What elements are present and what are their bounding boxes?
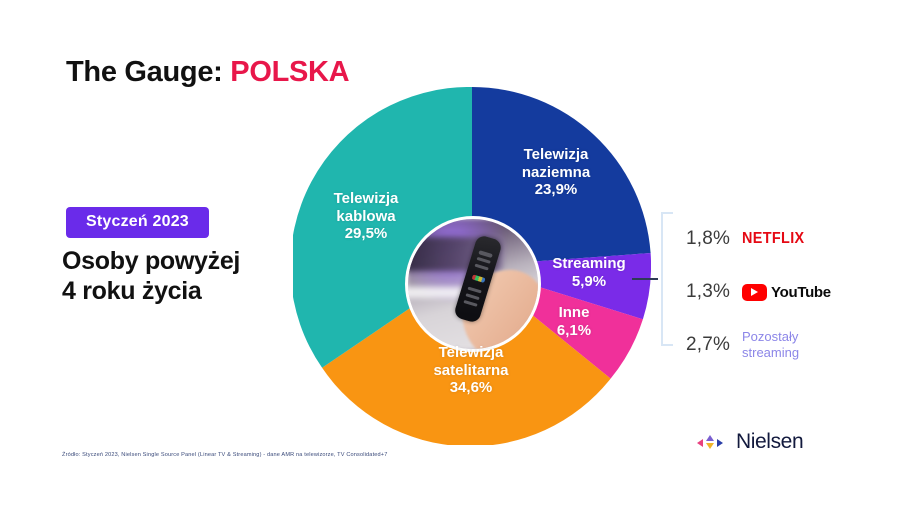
legend-row-netflix: 1,8% NETFLIX <box>686 218 891 260</box>
netflix-wordmark: NETFLIX <box>742 230 805 248</box>
pie-label-inne-line1: Inne <box>527 304 621 322</box>
legend-row-youtube: 1,3% YouTube <box>686 271 891 313</box>
pie-value-kablowa: 29,5% <box>303 225 429 243</box>
netflix-logo: NETFLIX <box>742 230 891 248</box>
legend-value-youtube: 1,3% <box>686 281 742 303</box>
pie-label-satelitarna-line1: Telewizja <box>396 344 546 362</box>
pie-label-naziemna-line1: Telewizja <box>491 146 621 164</box>
youtube-logo: YouTube <box>742 284 891 301</box>
pie-label-naziemna: Telewizja naziemna 23,9% <box>491 146 621 199</box>
other-streaming-line2: streaming <box>742 345 799 361</box>
page-title-accent: POLSKA <box>230 56 349 88</box>
pie-label-streaming-line1: Streaming <box>524 255 654 273</box>
legend-value-other-streaming: 2,7% <box>686 334 742 356</box>
pie-label-satelitarna-line2: satelitarna <box>396 362 546 380</box>
pie-value-streaming: 5,9% <box>524 273 654 291</box>
streaming-breakout-legend: 1,8% NETFLIX 1,3% YouTube 2,7% Pozostały… <box>686 218 891 377</box>
pie-label-kablowa-line2: kablowa <box>303 208 429 226</box>
period-badge: Styczeń 2023 <box>66 207 209 238</box>
streaming-breakout-bracket <box>655 212 669 346</box>
bracket-top-arm <box>661 212 673 214</box>
other-streaming-line1: Pozostały <box>742 329 799 345</box>
bracket-vertical <box>661 212 663 346</box>
nielsen-wordmark: Nielsen <box>736 430 803 454</box>
pie-value-satelitarna: 34,6% <box>396 379 546 397</box>
pie-label-inne: Inne 6,1% <box>527 304 621 339</box>
audience-subheading: Osoby powyżej 4 roku życia <box>62 247 240 306</box>
nielsen-logo: Nielsen <box>697 430 803 454</box>
audience-subheading-line2: 4 roku życia <box>62 277 240 307</box>
pie-label-kablowa: Telewizja kablowa 29,5% <box>303 190 429 243</box>
legend-value-netflix: 1,8% <box>686 228 742 250</box>
pie-label-satelitarna: Telewizja satelitarna 34,6% <box>396 344 546 397</box>
pie-value-naziemna: 23,9% <box>491 181 621 199</box>
bracket-bottom-arm <box>661 344 673 346</box>
pie-label-naziemna-line2: naziemna <box>491 164 621 182</box>
legend-row-other-streaming: 2,7% Pozostały streaming <box>686 324 891 366</box>
nielsen-marks-icon <box>697 434 729 450</box>
source-note: Źródło: Styczeń 2023, Nielsen Single Sou… <box>62 452 387 458</box>
page-title-main: The Gauge: <box>66 56 223 88</box>
youtube-wordmark: YouTube <box>771 284 831 301</box>
youtube-play-icon <box>742 284 767 301</box>
pie-label-streaming: Streaming 5,9% <box>524 255 654 290</box>
other-streaming-label: Pozostały streaming <box>742 329 891 361</box>
pie-label-kablowa-line1: Telewizja <box>303 190 429 208</box>
audience-subheading-line1: Osoby powyżej <box>62 247 240 277</box>
page-title: The Gauge: POLSKA <box>66 56 349 89</box>
remote-color-buttons <box>472 274 486 282</box>
pie-value-inne: 6,1% <box>527 322 621 340</box>
